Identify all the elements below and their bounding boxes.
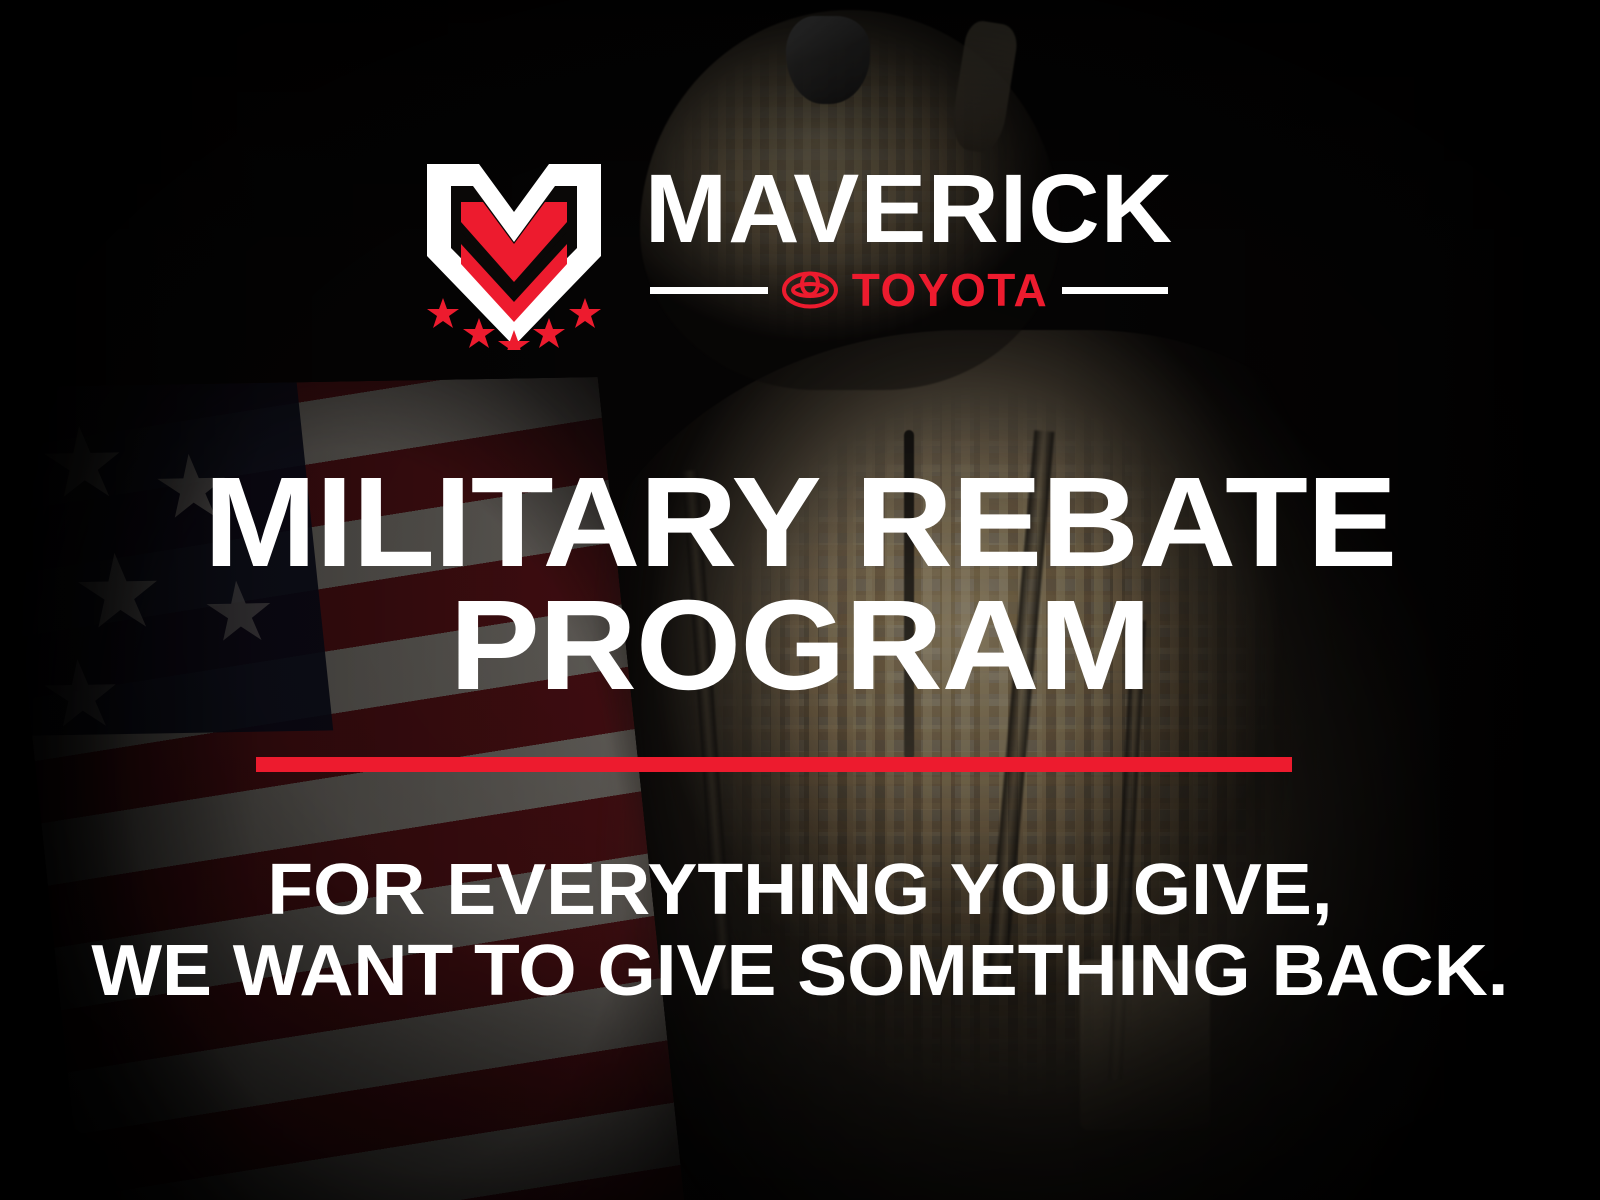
toyota-wordmark: TOYOTA bbox=[852, 267, 1048, 313]
red-divider-bar bbox=[256, 757, 1292, 772]
brand-logo-lockup[interactable]: MAVERICK TOYOTA bbox=[0, 160, 1600, 350]
headline-line-2: PROGRAM bbox=[0, 585, 1600, 708]
brand-wordmark: MAVERICK bbox=[634, 164, 1185, 253]
tagline-line-2: WE WANT TO GIVE SOMETHING BACK. bbox=[0, 931, 1600, 1012]
toyota-lockup-row: TOYOTA bbox=[639, 267, 1179, 313]
promo-banner: MAVERICK TOYOTA MILITARY REBATE PROGRAM bbox=[0, 0, 1600, 1200]
headline-line-1: MILITARY REBATE bbox=[0, 462, 1600, 585]
page-title: MILITARY REBATE PROGRAM bbox=[0, 462, 1600, 708]
lockup-rule-left bbox=[650, 287, 768, 294]
banner-content: MAVERICK TOYOTA MILITARY REBATE PROGRAM bbox=[0, 0, 1600, 1200]
wordmark-block: MAVERICK TOYOTA bbox=[639, 160, 1179, 313]
military-chevron-badge-icon bbox=[421, 160, 607, 350]
toyota-oval-icon bbox=[782, 270, 838, 310]
tagline-line-1: FOR EVERYTHING YOU GIVE, bbox=[0, 850, 1600, 931]
lockup-rule-right bbox=[1062, 287, 1168, 294]
tagline: FOR EVERYTHING YOU GIVE, WE WANT TO GIVE… bbox=[0, 850, 1600, 1011]
